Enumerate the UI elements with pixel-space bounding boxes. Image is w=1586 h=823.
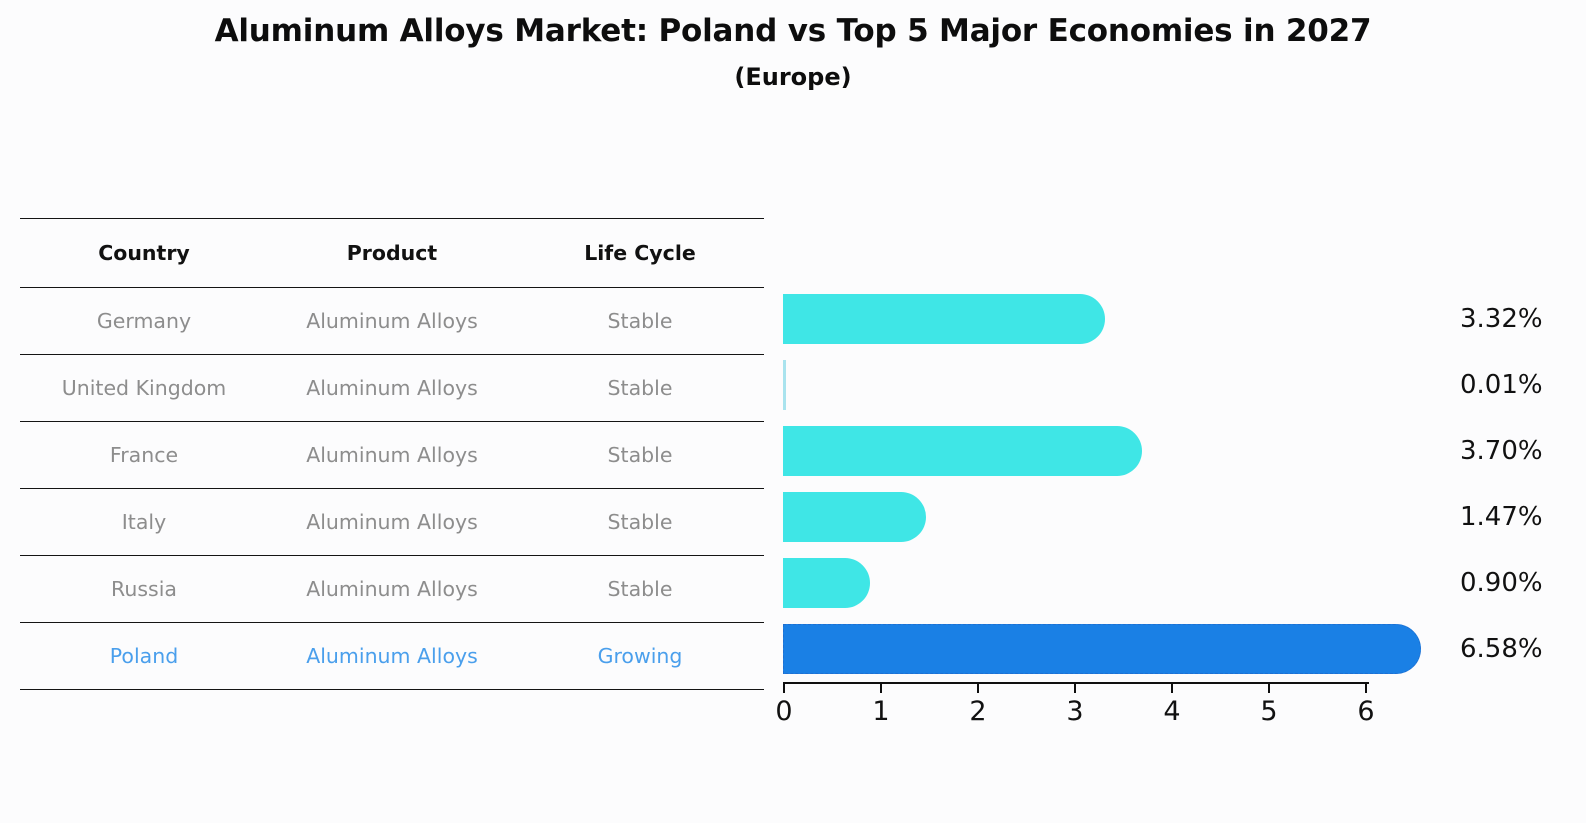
table-row: GermanyAluminum AlloysStable [20, 288, 764, 355]
x-tick-label: 0 [775, 696, 792, 727]
bar-value-label: 0.01% [1460, 360, 1543, 410]
bar-united-kingdom [783, 360, 786, 410]
page-subtitle: (Europe) [0, 62, 1586, 93]
table-row: ItalyAluminum AlloysStable [20, 489, 764, 556]
table-row: RussiaAluminum AlloysStable [20, 556, 764, 623]
cell-life-cycle: Stable [516, 355, 764, 422]
x-tick-label: 5 [1260, 696, 1277, 727]
bar-row: 0.90% [783, 550, 1483, 616]
cell-life-cycle: Stable [516, 556, 764, 623]
x-tick [1268, 682, 1270, 693]
cell-country: Italy [20, 489, 268, 556]
column-header-life-cycle: Life Cycle [516, 219, 764, 288]
country-table: Country Product Life Cycle GermanyAlumin… [20, 218, 764, 690]
x-tick-label: 1 [872, 696, 889, 727]
cell-country: France [20, 422, 268, 489]
bar-value-label: 0.90% [1460, 558, 1543, 608]
cell-life-cycle: Growing [516, 623, 764, 690]
cell-product: Aluminum Alloys [268, 355, 516, 422]
title-block: Aluminum Alloys Market: Poland vs Top 5 … [0, 12, 1586, 93]
bar-row: 3.32% [783, 286, 1483, 352]
bar-row: 0.01% [783, 352, 1483, 418]
table-row: FranceAluminum AlloysStable [20, 422, 764, 489]
bar-chart-pane: 3.32%0.01%3.70%1.47%0.90%6.58% 0123456 [783, 218, 1566, 718]
x-tick [1074, 682, 1076, 693]
cell-country: Poland [20, 623, 268, 690]
cell-product: Aluminum Alloys [268, 556, 516, 623]
x-tick [1171, 682, 1173, 693]
bar-france [783, 426, 1142, 476]
bar-series: 3.32%0.01%3.70%1.47%0.90%6.58% [783, 286, 1483, 682]
x-tick-label: 4 [1163, 696, 1180, 727]
x-tick [1365, 682, 1367, 693]
page-title: Aluminum Alloys Market: Poland vs Top 5 … [0, 12, 1586, 52]
cell-product: Aluminum Alloys [268, 422, 516, 489]
bar-row: 1.47% [783, 484, 1483, 550]
bar-russia [783, 558, 870, 608]
bar-value-label: 1.47% [1460, 492, 1543, 542]
country-table-pane: Country Product Life Cycle GermanyAlumin… [20, 218, 764, 690]
bar-poland [783, 624, 1421, 674]
cell-life-cycle: Stable [516, 489, 764, 556]
bar-value-label: 3.70% [1460, 426, 1543, 476]
column-header-product: Product [268, 219, 516, 288]
cell-country: Germany [20, 288, 268, 355]
table-header: Country Product Life Cycle [20, 219, 764, 288]
x-tick-label: 6 [1357, 696, 1374, 727]
x-tick-label: 2 [969, 696, 986, 727]
cell-life-cycle: Stable [516, 288, 764, 355]
x-tick-label: 3 [1066, 696, 1083, 727]
cell-product: Aluminum Alloys [268, 489, 516, 556]
table-body: GermanyAluminum AlloysStableUnited Kingd… [20, 288, 764, 690]
table-header-row: Country Product Life Cycle [20, 219, 764, 288]
x-tick [977, 682, 979, 693]
bar-germany [783, 294, 1105, 344]
bar-value-label: 3.32% [1460, 294, 1543, 344]
x-tick [783, 682, 785, 693]
chart-figure: Aluminum Alloys Market: Poland vs Top 5 … [0, 0, 1586, 823]
column-header-country: Country [20, 219, 268, 288]
bar-row: 3.70% [783, 418, 1483, 484]
cell-product: Aluminum Alloys [268, 288, 516, 355]
cell-country: Russia [20, 556, 268, 623]
bar-italy [783, 492, 926, 542]
cell-country: United Kingdom [20, 355, 268, 422]
table-row: PolandAluminum AlloysGrowing [20, 623, 764, 690]
cell-product: Aluminum Alloys [268, 623, 516, 690]
cell-life-cycle: Stable [516, 422, 764, 489]
x-tick [880, 682, 882, 693]
bar-row: 6.58% [783, 616, 1483, 682]
table-row: United KingdomAluminum AlloysStable [20, 355, 764, 422]
bar-value-label: 6.58% [1460, 624, 1543, 674]
